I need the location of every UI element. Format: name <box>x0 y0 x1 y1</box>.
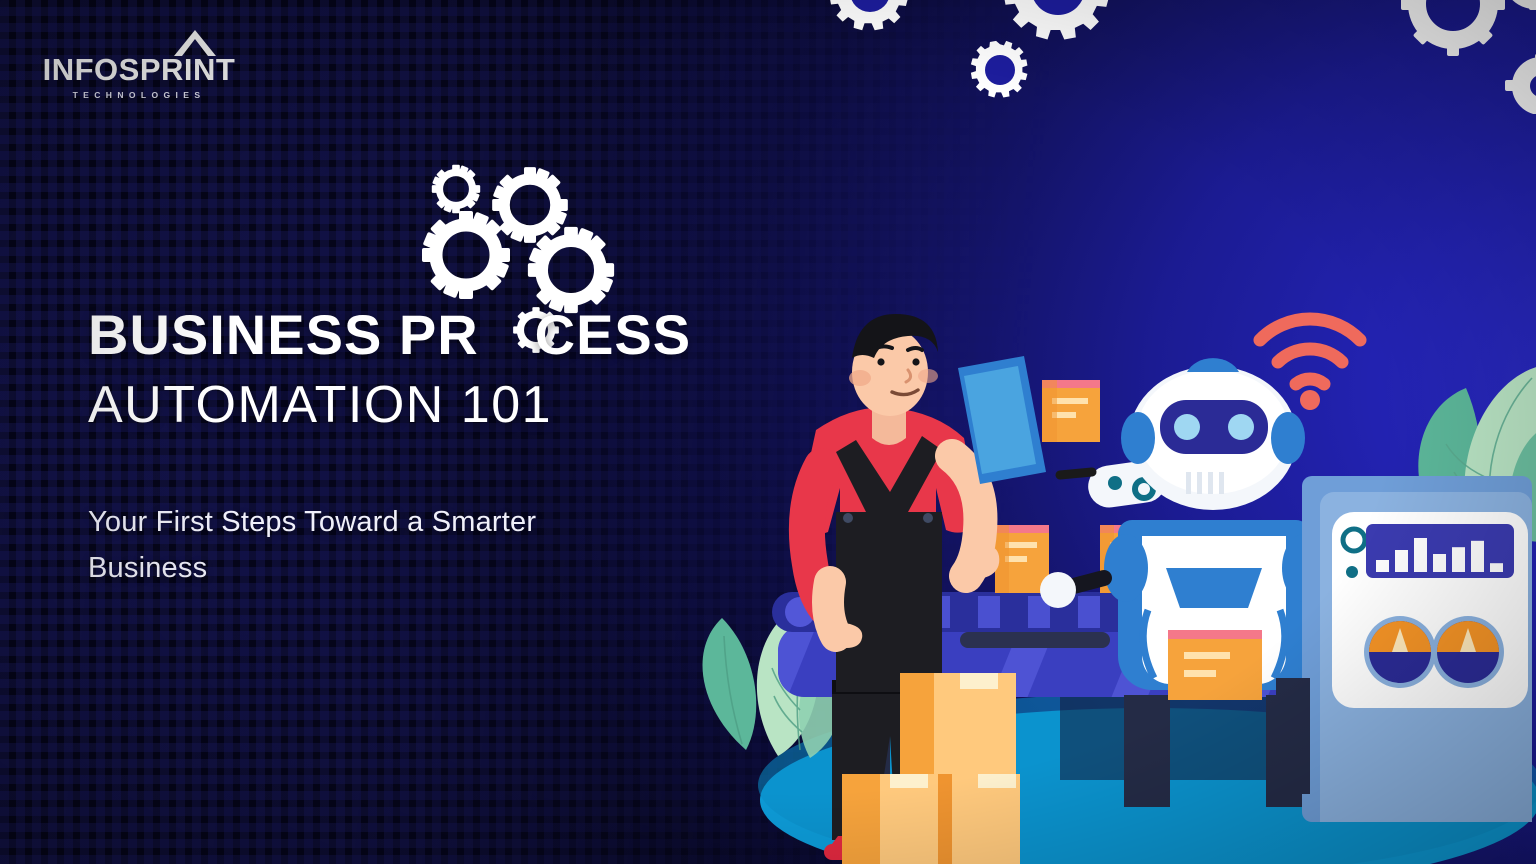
floating-box <box>1042 380 1100 442</box>
headline-block: BUSINESS PRCESS AUTOMATION 101 <box>88 305 788 433</box>
subtitle: Your First Steps Toward a Smarter Busine… <box>88 500 608 592</box>
headline-line-1-before: BUSINESS PR <box>88 303 479 366</box>
background-gear-cluster-top <box>790 0 1210 160</box>
brand-logo[interactable]: INFOSPRINT TECHNOLOGIES <box>24 28 254 106</box>
gauge-right <box>1432 616 1504 688</box>
conveyor-leg <box>1124 695 1170 807</box>
control-panel <box>1302 476 1532 822</box>
background-gear-cluster-right <box>1395 0 1536 114</box>
brand-name: INFOSPRINT <box>24 54 254 85</box>
wifi-signal-icon <box>1260 319 1360 384</box>
brand-tagline: TECHNOLOGIES <box>24 90 254 100</box>
banner-root: INFOSPRINT TECHNOLOGIES BUSINESS PRCESS … <box>0 0 1536 864</box>
panel-bar-chart <box>1366 524 1514 578</box>
headline-line-1: BUSINESS PRCESS <box>88 305 788 364</box>
headline-line-2: AUTOMATION 101 <box>88 378 788 433</box>
gauge-left <box>1364 616 1436 688</box>
belt-box <box>995 525 1049 593</box>
headline-line-1-after: CESS <box>535 303 692 366</box>
factory-automation-scene <box>660 280 1536 864</box>
robot-held-box <box>1168 630 1262 700</box>
